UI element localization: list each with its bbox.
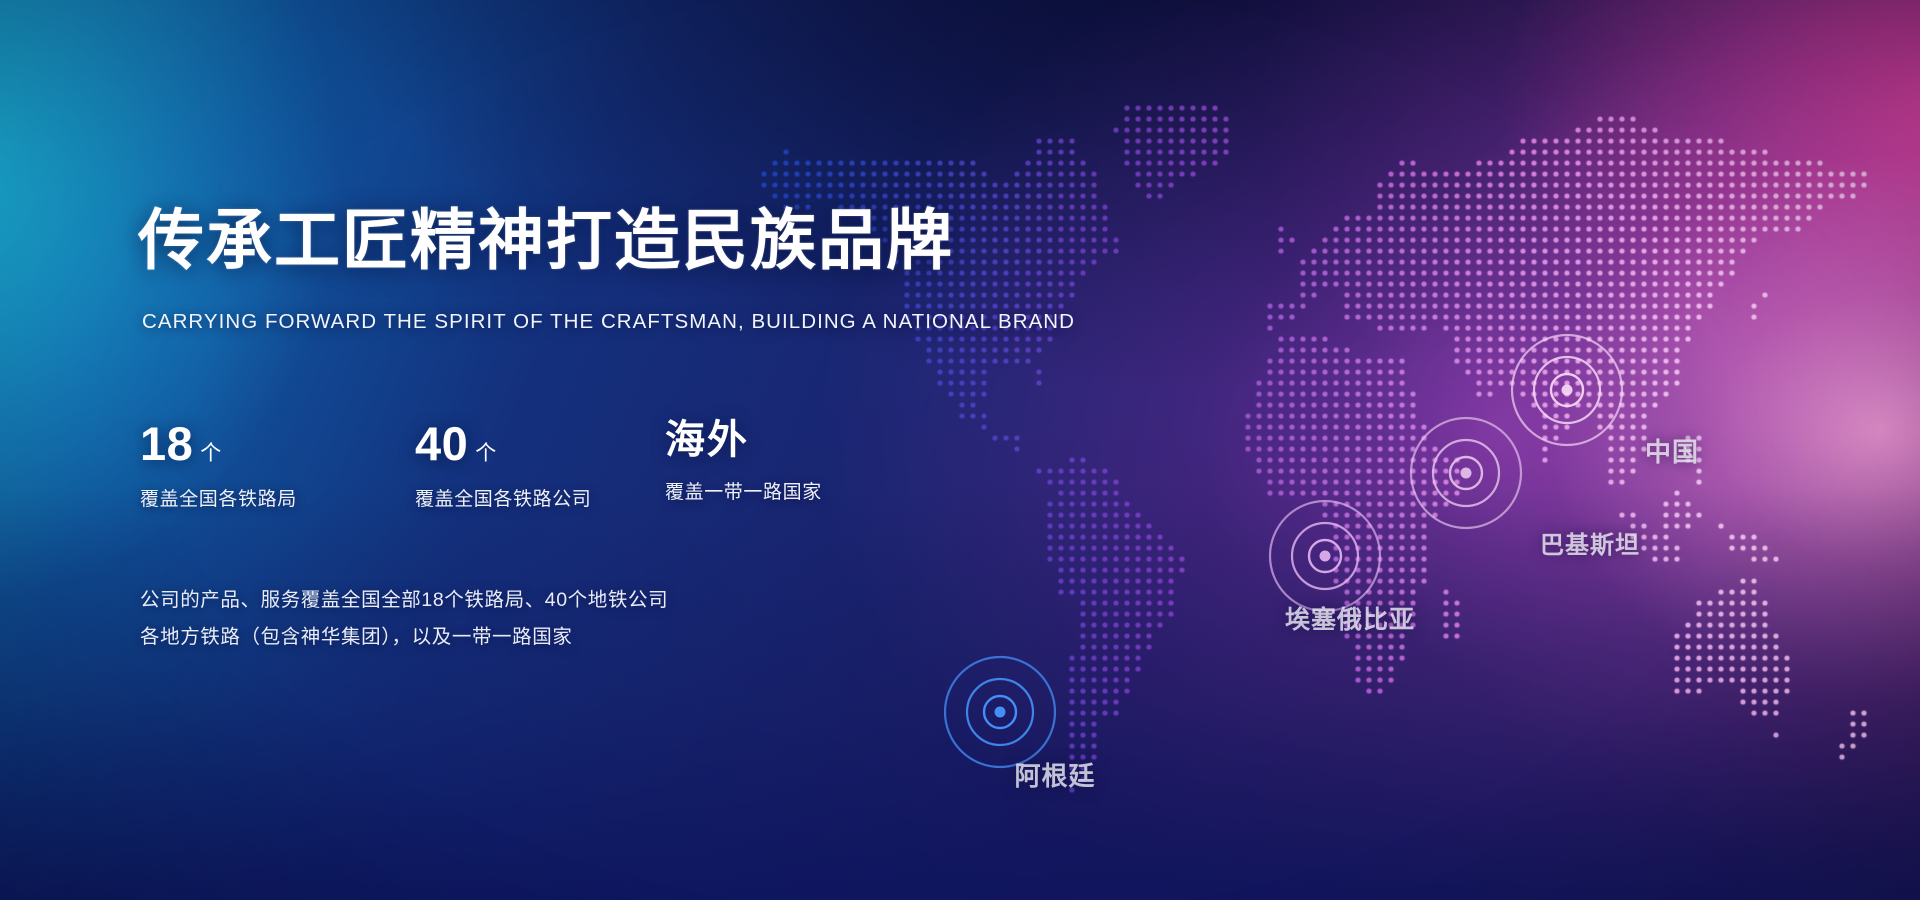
stat-value-group: 18 个 [140,420,415,467]
hero-banner: 中国巴基斯坦埃塞俄比亚阿根廷 传承工匠精神打造民族品牌 CARRYING FOR… [0,0,1920,900]
stat-description: 覆盖全国各铁路局 [140,484,415,511]
map-marker-label-china: 中国 [1645,432,1699,469]
stat-unit: 个 [475,443,496,464]
stat-unit: 个 [200,443,221,464]
page-subtitle: CARRYING FORWARD THE SPIRIT OF THE CRAFT… [142,310,1075,334]
description-line-2: 各地方铁路（包含神华集团），以及一带一路国家 [140,619,668,656]
stat-value: 40 [415,420,468,467]
stat-value: 18 [140,420,193,467]
stat-value-group: 40 个 [415,420,665,467]
map-marker-label-argentina: 阿根廷 [1014,756,1095,793]
description-paragraph: 公司的产品、服务覆盖全国全部18个铁路局、40个地铁公司 各地方铁路（包含神华集… [140,582,668,656]
map-marker-label-ethiopia: 埃塞俄比亚 [1285,600,1415,636]
description-line-1: 公司的产品、服务覆盖全国全部18个铁路局、40个地铁公司 [140,582,668,619]
stat-description: 覆盖一带一路国家 [665,477,822,504]
stat-item-overseas: 海外 覆盖一带一路国家 [665,420,822,511]
stat-value-group: 海外 [665,420,822,460]
stat-item-metro-companies: 40 个 覆盖全国各铁路公司 [415,420,665,511]
map-marker-label-pakistan: 巴基斯坦 [1540,525,1640,560]
stat-item-railway-bureaus: 18 个 覆盖全国各铁路局 [140,420,415,511]
stats-row: 18 个 覆盖全国各铁路局 40 个 覆盖全国各铁路公司 海外 覆盖一带一路国家 [140,420,822,511]
stat-description: 覆盖全国各铁路公司 [415,484,665,511]
page-title: 传承工匠精神打造民族品牌 [138,207,954,273]
stat-value: 海外 [665,420,749,460]
map-marker-pakistan[interactable] [1396,403,1536,543]
